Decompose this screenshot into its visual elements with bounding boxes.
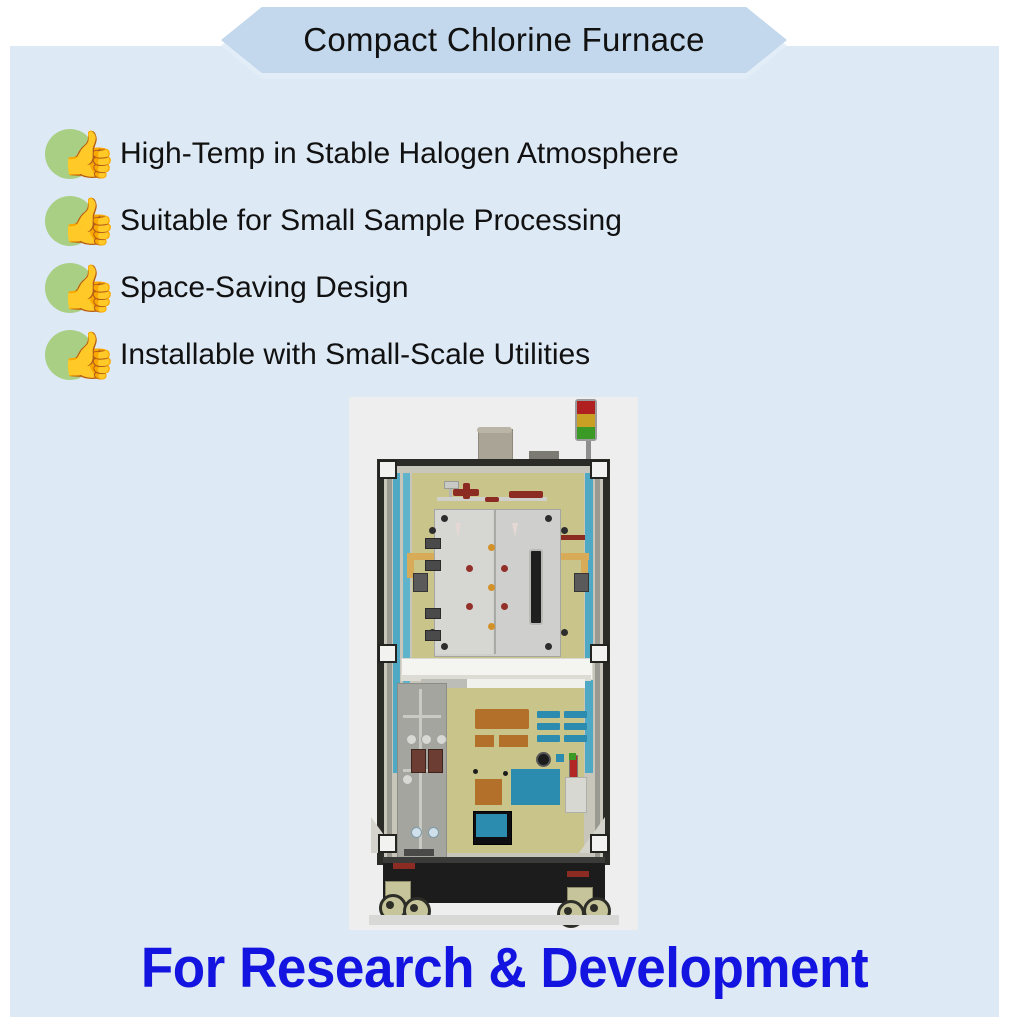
gas-valve bbox=[402, 774, 413, 785]
chamber-port bbox=[501, 603, 508, 610]
chamber-hinge bbox=[425, 630, 441, 641]
frame-corner-block bbox=[378, 644, 397, 663]
control-panel-screw bbox=[503, 771, 508, 776]
side-bracket-right bbox=[559, 553, 589, 560]
chamber-port bbox=[466, 565, 473, 572]
title-banner: Compact Chlorine Furnace bbox=[221, 7, 787, 73]
frame-corner-block bbox=[590, 460, 609, 479]
feature-item: 👍 Suitable for Small Sample Processing bbox=[42, 187, 862, 254]
caster-hub bbox=[410, 904, 418, 912]
thumbs-up-icon: 👍 bbox=[42, 324, 118, 386]
control-panel-module bbox=[475, 735, 494, 747]
chamber-bolt bbox=[545, 643, 552, 650]
feature-label: Suitable for Small Sample Processing bbox=[120, 206, 622, 236]
pipe-fitting-red bbox=[485, 497, 499, 502]
valve-handle bbox=[444, 481, 459, 489]
pressure-gauge bbox=[411, 827, 422, 838]
feature-item: 👍 High-Temp in Stable Halogen Atmosphere bbox=[42, 120, 862, 187]
chamber-bolt bbox=[429, 527, 436, 534]
side-pipe-red bbox=[561, 535, 585, 540]
control-panel-indicator bbox=[556, 754, 564, 762]
chamber-port bbox=[501, 565, 508, 572]
frame-corner-block bbox=[590, 834, 609, 853]
side-actuator-right bbox=[574, 573, 589, 592]
exhaust-duct-cap bbox=[477, 427, 512, 433]
furnace-chamber-door bbox=[435, 510, 493, 654]
chamber-port bbox=[466, 603, 473, 610]
control-panel-module bbox=[475, 779, 502, 805]
control-panel-touchscreen bbox=[511, 769, 560, 805]
feature-list: 👍 High-Temp in Stable Halogen Atmosphere… bbox=[42, 120, 862, 388]
mass-flow-controller bbox=[428, 749, 443, 773]
frame-post-left bbox=[387, 469, 392, 857]
chamber-bolt bbox=[441, 515, 448, 522]
chamber-port bbox=[488, 544, 495, 551]
thumbs-up-icon: 👍 bbox=[42, 123, 118, 185]
feature-label: Space-Saving Design bbox=[120, 273, 409, 303]
frame-post-right bbox=[595, 469, 600, 857]
pressure-gauge bbox=[428, 827, 439, 838]
equipment-label bbox=[567, 871, 589, 877]
thumbs-up-glyph: 👍 bbox=[60, 257, 117, 319]
chamber-bolt bbox=[561, 629, 568, 636]
control-panel-button bbox=[537, 723, 560, 730]
control-panel-button bbox=[564, 711, 587, 718]
control-panel-button bbox=[564, 735, 587, 742]
equipment-label bbox=[393, 863, 415, 869]
floor-shadow bbox=[369, 915, 619, 925]
exhaust-duct bbox=[478, 429, 513, 461]
signal-lamp-green bbox=[577, 427, 595, 439]
caster-hub bbox=[564, 907, 572, 915]
chamber-hinge bbox=[425, 608, 441, 619]
side-bracket-left bbox=[407, 553, 435, 560]
chamber-hinge bbox=[425, 538, 441, 549]
control-panel-button bbox=[537, 735, 560, 742]
caster-hub bbox=[386, 901, 394, 909]
chamber-bolt bbox=[441, 643, 448, 650]
control-panel-knob bbox=[536, 752, 551, 767]
page-title: Compact Chlorine Furnace bbox=[221, 7, 787, 73]
control-panel-screw bbox=[473, 769, 478, 774]
pipe-fitting-red bbox=[509, 491, 543, 498]
sight-glass bbox=[529, 549, 543, 625]
control-panel-module bbox=[499, 735, 528, 747]
feature-item: 👍 Space-Saving Design bbox=[42, 254, 862, 321]
thumbs-up-icon: 👍 bbox=[42, 190, 118, 252]
chamber-hinge bbox=[425, 560, 441, 571]
chamber-port bbox=[488, 584, 495, 591]
product-photo bbox=[349, 397, 638, 930]
signal-lamp-amber bbox=[577, 414, 595, 427]
frame-corner-block bbox=[378, 834, 397, 853]
feature-label: Installable with Small-Scale Utilities bbox=[120, 340, 590, 370]
thumbs-up-glyph: 👍 bbox=[60, 324, 117, 386]
level-indicator-top bbox=[569, 753, 576, 760]
pipe-fitting-red bbox=[463, 483, 470, 499]
thumbs-up-glyph: 👍 bbox=[60, 123, 117, 185]
thumbs-up-glyph: 👍 bbox=[60, 190, 117, 252]
side-actuator-left bbox=[413, 573, 428, 592]
feature-item: 👍 Installable with Small-Scale Utilities bbox=[42, 321, 862, 388]
caster-hub bbox=[590, 904, 598, 912]
control-panel-display bbox=[475, 709, 529, 729]
chamber-bolt bbox=[561, 527, 568, 534]
chamber-bolt bbox=[545, 515, 552, 522]
gas-panel-base bbox=[404, 849, 434, 856]
thumbs-up-icon: 👍 bbox=[42, 257, 118, 319]
control-panel-monitor-screen bbox=[476, 814, 507, 837]
furnace-chamber-seam bbox=[494, 510, 496, 654]
mass-flow-controller bbox=[411, 749, 426, 773]
signal-lamp-red bbox=[577, 401, 595, 414]
control-panel-button bbox=[564, 723, 587, 730]
bottom-headline: For Research & Development bbox=[35, 935, 973, 1001]
gas-line bbox=[403, 715, 441, 718]
chamber-port bbox=[488, 623, 495, 630]
feature-label: High-Temp in Stable Halogen Atmosphere bbox=[120, 139, 679, 169]
control-panel-button bbox=[537, 711, 560, 718]
gas-valve bbox=[421, 734, 432, 745]
gas-valve bbox=[436, 734, 447, 745]
frame-corner-block bbox=[590, 644, 609, 663]
gas-valve bbox=[406, 734, 417, 745]
base-plinth-top bbox=[383, 857, 605, 863]
frame-corner-block bbox=[378, 460, 397, 479]
side-accessory bbox=[565, 777, 587, 813]
